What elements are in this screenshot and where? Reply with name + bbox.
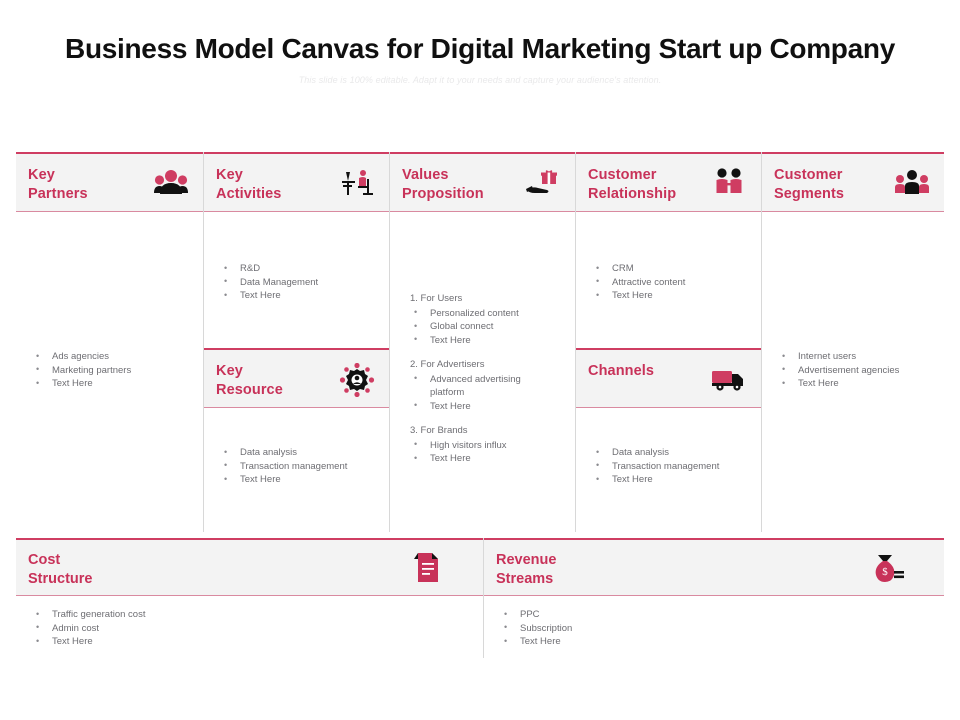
cost-structure-title: Cost Structure [28,551,92,589]
value-group: 3. For Brands High visitors influx Text … [404,424,567,466]
business-model-canvas-grid: Key Partners Ads agencies Marketing part… [16,152,944,532]
key-partners-header[interactable]: Key Partners [16,152,203,212]
list-item: R&D [218,262,381,276]
customer-relationship-header[interactable]: Customer Relationship [576,152,761,212]
key-activities-title: Key Activities [216,166,281,204]
two-people-icon [711,167,747,201]
gift-on-hand-icon [525,167,561,201]
list-item: Text Here [404,334,567,348]
list-item: Advertisement agencies [776,364,936,378]
revenue-streams-list: PPC Subscription Text Here [498,608,936,649]
channels-title: Channels [588,362,654,381]
list-item: Transaction management [218,460,381,474]
key-resource-title: Key Resource [216,362,283,400]
customer-relationship-title: Customer Relationship [588,166,676,204]
cost-structure-header[interactable]: Cost Structure [16,538,483,596]
key-activities-list: R&D Data Management Text Here [218,262,381,303]
list-item: Attractive content [590,276,753,290]
key-partners-list: Ads agencies Marketing partners Text Her… [30,350,195,391]
list-item: Traffic generation cost [30,608,475,622]
money-bag-icon: $ [870,550,906,586]
column-key-partners: Key Partners Ads agencies Marketing part… [16,152,204,532]
list-item: Text Here [590,473,753,487]
list-item: Data Management [218,276,381,290]
revenue-streams-title: Revenue Streams [496,551,556,589]
document-icon [409,550,445,586]
list-item: CRM [590,262,753,276]
list-item: Text Here [30,635,475,649]
page-title: Business Model Canvas for Digital Market… [0,33,960,65]
list-item: Personalized content [404,307,567,321]
people-group-icon [153,167,189,201]
customer-segments-header[interactable]: Customer Segments [762,152,944,212]
network-gear-icon [339,363,375,397]
list-item: Data analysis [590,446,753,460]
slide-canvas: Business Model Canvas for Digital Market… [0,0,960,720]
revenue-streams-header[interactable]: Revenue Streams $ [484,538,944,596]
page-subtitle: This slide is 100% editable. Adapt it to… [0,75,960,85]
list-item: Text Here [218,473,381,487]
delivery-truck-icon [711,363,747,397]
list-item: Text Here [218,289,381,303]
key-resource-list: Data analysis Transaction management Tex… [218,446,381,487]
list-item: Ads agencies [30,350,195,364]
list-item: Marketing partners [30,364,195,378]
values-proposition-title: Values Proposition [402,166,484,204]
values-proposition-list: 1. For Users Personalized content Global… [404,292,567,466]
values-proposition-header[interactable]: Values Proposition [390,152,575,212]
channels-header[interactable]: Channels [576,348,761,408]
list-item: High visitors influx [404,439,567,453]
column-customer-relationship-channels: Customer Relationship CRM Attractive con… [576,152,762,532]
svg-text:$: $ [882,566,888,578]
list-item: PPC [498,608,936,622]
cost-structure-list: Traffic generation cost Admin cost Text … [30,608,475,649]
list-item: Subscription [498,622,936,636]
list-item: Text Here [30,377,195,391]
list-item: Advanced advertising platform [404,373,567,400]
list-item: Internet users [776,350,936,364]
key-resource-header[interactable]: Key Resource [204,348,389,408]
list-item: Text Here [404,452,567,466]
list-item: Transaction management [590,460,753,474]
column-values-proposition: Values Proposition 1. For Users Persona [390,152,576,532]
three-people-icon [894,167,930,201]
customer-relationship-list: CRM Attractive content Text Here [590,262,753,303]
value-group: 1. For Users Personalized content Global… [404,292,567,347]
person-at-desk-icon [339,167,375,201]
channels-list: Data analysis Transaction management Tex… [590,446,753,487]
list-item: Text Here [590,289,753,303]
list-item: Text Here [498,635,936,649]
group-number: 2. For Advertisers [404,358,567,372]
list-item: Text Here [776,377,936,391]
key-partners-title: Key Partners [28,166,88,204]
list-item: Admin cost [30,622,475,636]
list-item: Global connect [404,320,567,334]
group-number: 3. For Brands [404,424,567,438]
customer-segments-title: Customer Segments [774,166,844,204]
bottom-row: Cost Structure Traffic generation cost A… [16,538,944,658]
column-customer-segments: Customer Segments Internet users Adverti… [762,152,944,532]
list-item: Text Here [404,400,567,414]
column-key-activities-resource: Key Activities R&D [204,152,390,532]
value-group: 2. For Advertisers Advanced advertising … [404,358,567,413]
section-cost-structure: Cost Structure Traffic generation cost A… [16,538,484,658]
section-revenue-streams: Revenue Streams $ PPC Subscription Text … [484,538,944,658]
customer-segments-list: Internet users Advertisement agencies Te… [776,350,936,391]
group-number: 1. For Users [404,292,567,306]
key-activities-header[interactable]: Key Activities [204,152,389,212]
list-item: Data analysis [218,446,381,460]
